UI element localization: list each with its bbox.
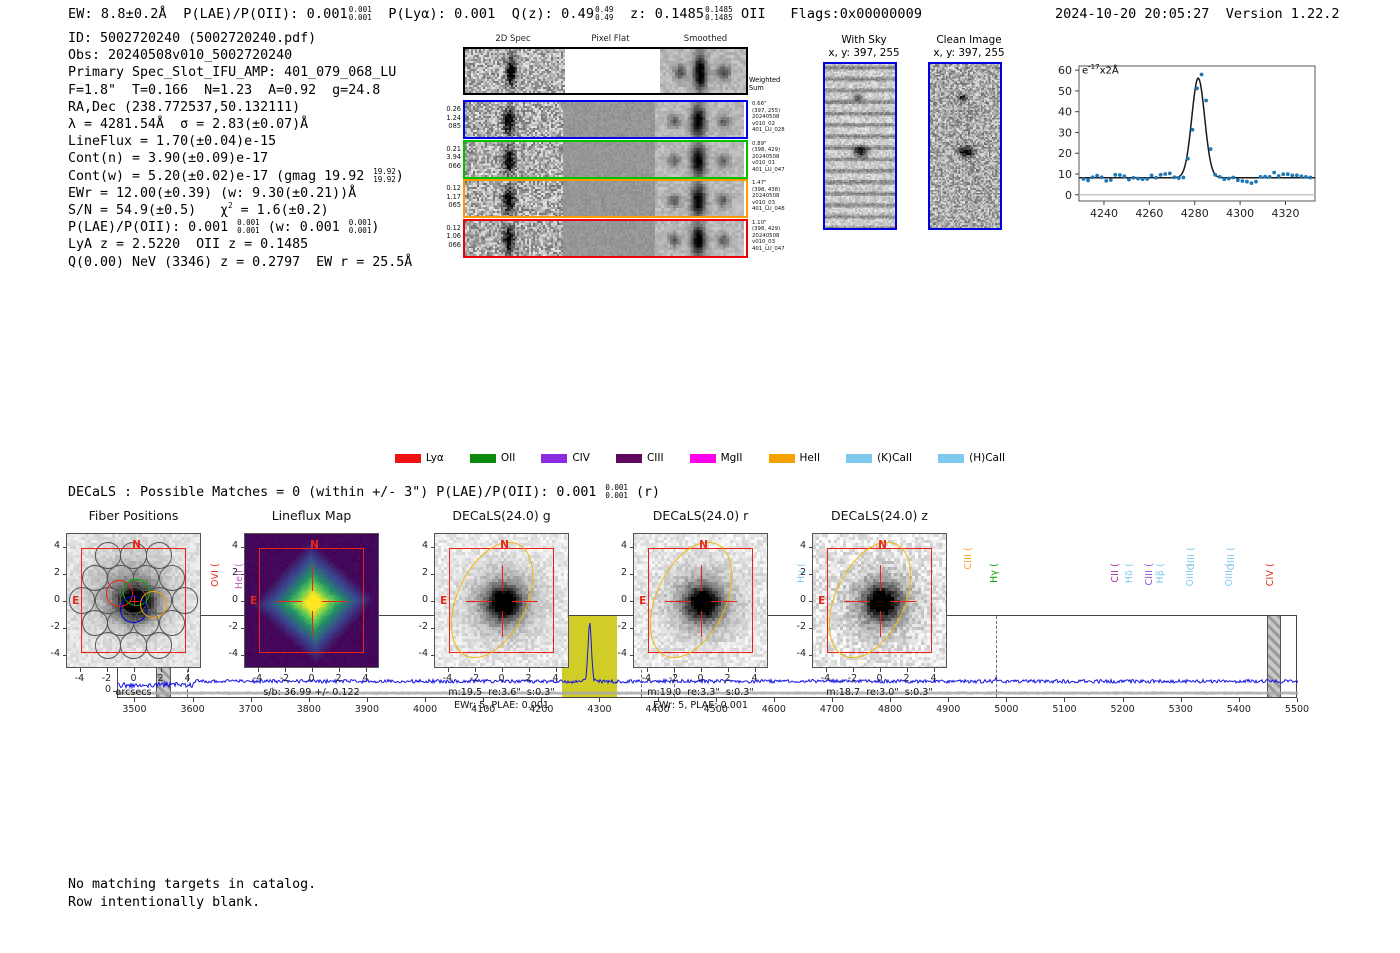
fiber-seg [655,102,744,137]
cutout-x-tick [755,668,756,672]
cutout-x-tick [475,668,476,672]
cutout-y-tick [809,574,813,575]
fiber-right-label: 1.47" (398, 438) 20240508 v010_03 401_LU… [752,180,810,213]
cutout-x-tick-label: -2 [460,673,490,684]
fiber-seg [563,102,655,137]
crosshair-top [502,565,504,591]
cutout-y-tick [630,547,634,548]
cutout-row: Fiber PositionsNE-4-4-2-2002244arcsecsLi… [0,508,1400,723]
fiber-left-number: 0.12 1.06 066 [439,224,461,250]
fiber-right-label: 1.10" (398, 429) 20240508 v010_03 401_LU… [752,220,810,253]
legend-swatch [769,454,795,463]
cutout-x-tick-label: 4 [740,673,770,684]
info-cont-w: Cont(w) = 5.20(±0.02)e-17 (gmag 19.92 19… [68,168,412,185]
crosshair-bottom [880,611,882,637]
flags-value: 0x00000009 [840,6,922,22]
cutout-y-tick-label: -4 [216,648,238,659]
svg-text:10: 10 [1058,168,1072,181]
fiber-rows[interactable] [463,100,748,258]
info-obs: Obs: 20240508v010_5002720240 [68,47,412,64]
compass-north: N [132,539,141,551]
crosshair-top [312,565,314,591]
cutout-y-tick [809,547,813,548]
cutout-y-tick [431,601,435,602]
fiber-image-cutouts: With Sky x, y: 397, 255 Clean Image x, y… [818,34,1018,259]
cutout-y-tick [241,628,245,629]
cutout-y-tick-label: 2 [605,567,627,578]
full-spectrum-plot[interactable]: e-17x2Å 02040603500360037003800390040004… [0,270,1400,450]
footer-note: No matching targets in catalog. Row inte… [68,876,316,911]
cutout-y-tick [630,655,634,656]
compass-north: N [699,539,708,551]
legend-label: Lyα [426,452,444,464]
cutout-y-tick [241,655,245,656]
legend-label: CIII [647,452,664,464]
info-plae-range-w: 0.0010.001 [349,219,372,235]
cutout-y-tick [241,574,245,575]
cutout-y-tick [630,628,634,629]
legend-swatch [846,454,872,463]
cutout-y-tick-label: -2 [784,621,806,632]
crosshair-bottom [312,611,314,637]
report-stamp: 2024-10-20 20:05:27 Version 1.22.2 [1055,6,1340,22]
svg-text:4240: 4240 [1090,207,1118,220]
qz-label: Q(z): [512,6,553,22]
compass-east: E [72,595,79,607]
cutout-y-tick-label: 2 [216,567,238,578]
cutout-x-tick [339,668,340,672]
fiber-right-label: 0.66" (397, 255) 20240508 v010_02 401_LU… [752,101,810,134]
info-plae-range: 0.0010.001 [237,219,260,235]
footer-line-2: Row intentionally blank. [68,894,316,912]
cutout-y-tick-label: -4 [38,648,60,659]
cutout-x-tick [556,668,557,672]
crosshair-top [701,565,703,591]
info-cont-n: Cont(n) = 3.90(±0.09)e-17 [68,150,412,167]
fiber-seg [465,102,563,137]
ew-value: 8.8±0.2Å [101,6,167,22]
crosshair-top [880,565,882,591]
crosshair-left [665,601,691,603]
decals-plae-range: 0.0010.001 [605,484,628,500]
with-sky-title-text: With Sky [841,34,886,46]
cutout-title: DECaLS(24.0) z [782,508,977,523]
zoom-plot-svg: 010203040506042404260428043004320 [1035,40,1325,235]
cutout-x-tick-label: 0 [487,673,517,684]
fiber-seg [465,221,563,256]
cutout-y-tick-label: 0 [216,594,238,605]
cutout-x-tick-label: 0 [686,673,716,684]
plae-range: 0.0010.001 [349,6,372,22]
legend-swatch [395,454,421,463]
decals-header-suffix: (r) [628,485,660,500]
z-species: OII [741,6,766,22]
flags-label: Flags: [790,6,839,22]
crosshair-right [890,601,916,603]
cutout-y-tick-label: 4 [38,540,60,551]
cutout-x-tick-label: -2 [838,673,868,684]
cutout-y-tick [63,574,67,575]
plae-value: 0.001 [307,6,348,22]
gmag-range: 19.9219.92 [373,168,396,184]
cutout-y-tick-label: -4 [784,648,806,659]
cutout-x-tick [701,668,702,672]
crosshair-center-v [134,596,136,606]
cutout-x-tick [529,668,530,672]
fiber-row[interactable] [463,179,748,218]
cutout-x-tick [366,668,367,672]
compass-north: N [500,539,509,551]
cutout-x-tick-label: 4 [173,673,203,684]
crosshair-right [322,601,348,603]
cutout-y-tick-label: -4 [605,648,627,659]
cutout-x-tick-label: 4 [351,673,381,684]
compass-north: N [878,539,887,551]
cutout-x-tick-label: 2 [713,673,743,684]
svg-text:60: 60 [1058,64,1072,77]
cutout-y-tick-label: 4 [216,540,238,551]
summary-header: EW: 8.8±0.2Å P(LAE)/P(OII): 0.0010.0010.… [68,6,922,22]
crosshair-right [512,601,538,603]
crosshair-left [276,601,302,603]
cutout-caption: m:18.7 re:3.0" s:0.3" [776,687,983,698]
cutout-title: DECaLS(24.0) g [404,508,599,523]
info-radec: RA,Dec (238.772537,50.132111) [68,99,412,116]
z-value: 0.1485 [655,6,704,22]
fiber-left-number: 0.12 1.17 065 [439,184,461,210]
cutout-title: DECaLS(24.0) r [603,508,798,523]
svg-text:30: 30 [1058,126,1072,139]
cutout-x-tick [285,668,286,672]
legend-swatch [938,454,964,463]
cutout-x-tick-label: -4 [632,673,662,684]
cutout-x-tick [161,668,162,672]
svg-text:4260: 4260 [1135,207,1163,220]
svg-text:4320: 4320 [1272,207,1300,220]
ws-seg [565,49,660,93]
legend-entry: Lyα [395,452,444,464]
fiber-right-labels: 0.66" (397, 255) 20240508 v010_02 401_LU… [750,100,810,258]
cutout-y-tick-label: 0 [406,594,428,605]
info-lineflux: LineFlux = 1.70(±0.04)e-15 [68,133,412,150]
cutout-y-tick [63,547,67,548]
z-range: 0.14850.1485 [705,6,733,22]
cutout-y-tick [241,547,245,548]
cutout-y-tick-label: 2 [406,567,428,578]
legend-label: (H)CaII [969,452,1005,464]
cutout-x-tick-label: -4 [65,673,95,684]
fiber-left-number: 0.21 3.94 066 [439,145,461,171]
plya-value: 0.001 [454,6,495,22]
cutout-y-tick [431,574,435,575]
cutout-x-tick-label: -4 [811,673,841,684]
legend-swatch [616,454,642,463]
fiber-seg [563,181,655,216]
fiber-row[interactable] [463,219,748,258]
cutout-y-tick [431,547,435,548]
fiber-seg [655,142,744,177]
col-title-smoothed: Smoothed [658,34,753,44]
cutout-x-tick-label: -2 [92,673,122,684]
cutout-y-tick-label: 4 [784,540,806,551]
legend-swatch [470,454,496,463]
cutout-x-tick [502,668,503,672]
info-primary-spec: Primary Spec_Slot_IFU_AMP: 401_079_068_L… [68,64,412,81]
info-plae: P(LAE)/P(OII): 0.001 0.0010.001 (w: 0.00… [68,219,412,236]
cutout-y-tick-label: 0 [38,594,60,605]
cutout-caption-2: EWr: 5, PLAE: 0.001 [398,700,605,711]
emission-line-zoom-plot[interactable]: 010203040506042404260428043004320e-17x2Å [1035,40,1325,235]
ws-seg [465,49,565,93]
cutout-x-tick [107,668,108,672]
info-snr: S/N = 54.9(±0.5) χ2 = 1.6(±0.2) [68,202,412,219]
legend-entry: HeII [769,452,821,464]
info-redshifts: LyA z = 2.5220 OII z = 0.1485 [68,236,412,253]
spectrum-legend: LyαOIICIVCIIIMgIIHeII(K)CaII(H)CaII [0,452,1400,464]
cutout-x-tick [448,668,449,672]
legend-label: HeII [800,452,821,464]
fiber-right-label: 0.89" (398, 429) 20240508 v010_01 401_LU… [752,141,810,174]
legend-entry: (K)CaII [846,452,912,464]
cutout-y-tick [431,628,435,629]
timestamp: 2024-10-20 20:05:27 [1055,6,1209,22]
compass-east: E [440,595,447,607]
clean-image-title-text: Clean Image [936,34,1001,46]
with-sky-subtitle: x, y: 397, 255 [828,47,899,59]
z-label: z: [630,6,646,22]
fiber-row[interactable] [463,140,748,179]
cutout-x-tick-label: -4 [243,673,273,684]
svg-text:50: 50 [1058,85,1072,98]
cutout-x-tick-label: -2 [659,673,689,684]
cutout-x-tick-label: -2 [270,673,300,684]
fiber-seg [655,221,744,256]
cutout-y-tick-label: 0 [784,594,806,605]
crosshair-bottom [502,611,504,637]
cutout-x-tick-label: 2 [892,673,922,684]
legend-label: OII [501,452,515,464]
cutout-x-tick-label: 0 [119,673,149,684]
cutout-x-tick [312,668,313,672]
cutout-y-tick [630,574,634,575]
detection-info-block: ID: 5002720240 (5002720240.pdf) Obs: 202… [68,30,412,271]
fiber-seg [655,181,744,216]
cutout-caption: m:19.0 re:3.3" s:0.3" [597,687,804,698]
fiber-seg [465,142,563,177]
footer-line-1: No matching targets in catalog. [68,876,316,894]
cutout-y-tick [63,655,67,656]
info-seeing: F=1.8" T=0.166 N=1.23 A=0.92 g=24.8 [68,82,412,99]
twod-spec-panel-group: 2D Spec Pixel Flat Smoothed Weighted Sum… [463,34,808,259]
weighted-sum-label: Weighted Sum [749,76,780,92]
fiber-seg [465,181,563,216]
cutout-y-tick-label: 4 [605,540,627,551]
clean-image[interactable] [928,62,1002,230]
cutout-y-tick-label: 2 [784,567,806,578]
cutout-y-tick [630,601,634,602]
cutout-x-tick-label: 2 [146,673,176,684]
cutout-x-tick [674,668,675,672]
compass-east: E [639,595,646,607]
ws-seg [660,49,746,93]
svg-text:4300: 4300 [1226,207,1254,220]
cutout-y-tick [63,601,67,602]
svg-text:20: 20 [1058,147,1072,160]
zoom-units-label: e-17x2Å [1082,63,1119,76]
cutout-x-tick [258,668,259,672]
cutout-x-tick-label: 4 [919,673,949,684]
cutout-caption: m:19.5 re:3.6" s:0.3" [398,687,605,698]
cutout-xlabel: arcsecs [46,687,221,698]
cutout-caption-2: EWr: 5, PLAE: 0.001 [597,700,804,711]
col-title-2dspec: 2D Spec [463,34,563,44]
fiber-seg [563,221,655,256]
cutout-y-tick-label: -4 [406,648,428,659]
qz-value: 0.49 [561,6,594,22]
cutout-x-tick [907,668,908,672]
legend-entry: MgII [690,452,743,464]
crosshair-left [844,601,870,603]
cutout-x-tick [188,668,189,672]
cutout-y-tick-label: 2 [38,567,60,578]
cutout-y-tick [241,601,245,602]
qz-range: 0.490.49 [595,6,613,22]
cutout-x-tick-label: 2 [514,673,544,684]
crosshair-right [711,601,737,603]
cutout-y-tick-label: -2 [38,621,60,632]
cutout-x-tick-label: 0 [297,673,327,684]
cutout-x-tick [934,668,935,672]
svg-text:40: 40 [1058,106,1072,119]
cutout-x-tick [647,668,648,672]
legend-entry: CIII [616,452,664,464]
cutout-x-tick [134,668,135,672]
legend-label: CIV [572,452,590,464]
info-wavelength: λ = 4281.54Å σ = 2.83(±0.07)Å [68,116,412,133]
cutout-y-tick [63,628,67,629]
legend-entry: CIV [541,452,590,464]
cutout-y-tick [431,655,435,656]
compass-east: E [818,595,825,607]
cutout-title: Fiber Positions [36,508,231,523]
decals-header: DECaLS : Possible Matches = 0 (within +/… [68,484,660,500]
compass-east: E [250,595,257,607]
fiber-row[interactable] [463,100,748,139]
info-secondary-line: Q(0.00) NeV (3346) z = 0.2797 EW r = 25.… [68,254,412,271]
ew-label: EW: [68,6,93,22]
svg-text:4280: 4280 [1181,207,1209,220]
cutout-x-tick [853,668,854,672]
legend-entry: OII [470,452,515,464]
col-title-pixelflat: Pixel Flat [563,34,658,44]
clean-image-subtitle: x, y: 397, 255 [933,47,1004,59]
cutout-y-tick [809,655,813,656]
cutout-caption: s/b: 36.99 +/- 0.122 [208,687,415,698]
cutout-y-tick [809,601,813,602]
cutout-title: Lineflux Map [214,508,409,523]
legend-entry: (H)CaII [938,452,1005,464]
legend-label: (K)CaII [877,452,912,464]
fiber-seg [563,142,655,177]
fiber-left-number: 0.26 1.24 085 [439,105,461,131]
cutout-x-tick-label: 2 [324,673,354,684]
cutout-x-tick-label: -4 [433,673,463,684]
with-sky-title: With Sky x, y: 397, 255 [818,34,910,59]
cutout-y-tick-label: -2 [605,621,627,632]
legend-swatch [690,454,716,463]
legend-swatch [541,454,567,463]
cutout-y-tick-label: -2 [406,621,428,632]
svg-text:0: 0 [1065,189,1072,202]
cutout-y-tick [809,628,813,629]
compass-north: N [310,539,319,551]
cutout-x-tick-label: 4 [541,673,571,684]
plya-label: P(Lyα): [388,6,446,22]
crosshair-bottom [701,611,703,637]
clean-image-title: Clean Image x, y: 397, 255 [923,34,1015,59]
cutout-x-tick [80,668,81,672]
cutout-y-tick-label: 4 [406,540,428,551]
decals-header-text: DECaLS : Possible Matches = 0 (within +/… [68,485,604,500]
with-sky-image[interactable] [823,62,897,230]
info-ewr: EWr = 12.00(±0.39) (w: 9.30(±0.21))Å [68,185,412,202]
cutout-y-tick-label: 0 [605,594,627,605]
info-id: ID: 5002720240 (5002720240.pdf) [68,30,412,47]
cutout-x-tick-label: 0 [865,673,895,684]
plae-label: P(LAE)/P(OII): [183,6,298,22]
cutout-x-tick [826,668,827,672]
weighted-sum-row[interactable] [463,47,748,95]
cutout-y-tick-label: -2 [216,621,238,632]
legend-label: MgII [721,452,743,464]
crosshair-left [466,601,492,603]
version-label: Version 1.22.2 [1226,6,1340,22]
cutout-x-tick [728,668,729,672]
cutout-x-tick [880,668,881,672]
